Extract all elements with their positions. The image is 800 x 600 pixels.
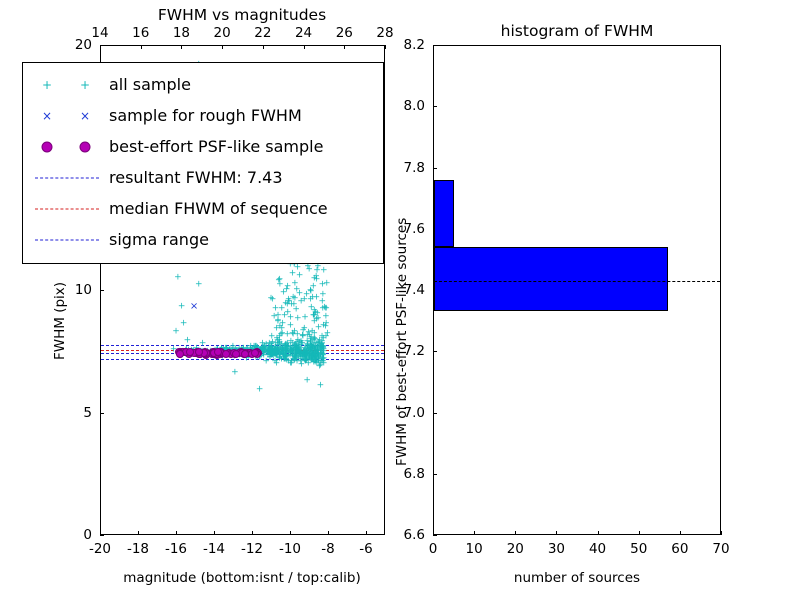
scatter-point-all-sample: + — [172, 327, 180, 336]
x-tick-label-bottom: -20 — [89, 541, 111, 557]
x-tick-label-top: 26 — [336, 25, 353, 41]
hist-y-tick — [433, 106, 437, 107]
scatter-point-psf-like — [186, 348, 194, 356]
hist-y-tick-label: 8.2 — [404, 37, 425, 53]
x-tick-label-bottom: -10 — [279, 541, 301, 557]
scatter-point-psf-like — [214, 348, 222, 356]
x-tick-label-top: 16 — [132, 25, 149, 41]
x-tick-label-bottom: -18 — [127, 541, 149, 557]
scatter-point-psf-like — [176, 350, 184, 358]
legend-item-resultant-fwhm: resultant FWHM: 7.43 — [31, 162, 375, 193]
scatter-point-all-sample: + — [280, 289, 288, 298]
hist-x-tick — [680, 531, 681, 535]
legend-marker-dashdot-blue-icon — [31, 229, 109, 251]
scatter-point-all-sample: + — [276, 333, 284, 342]
legend-marker-x-icon: ×× — [31, 105, 109, 127]
hist-x-tick-label: 50 — [630, 541, 647, 557]
hist-x-tick-label: 70 — [712, 541, 729, 557]
x-tick-label-bottom: -8 — [321, 541, 334, 557]
legend-marker-circle-icon — [31, 136, 109, 158]
scatter-point-all-sample: + — [318, 338, 326, 347]
scatter-point-all-sample: + — [279, 319, 287, 328]
legend-item-median-fwhm: median FHWM of sequence — [31, 193, 375, 224]
x-tick-top — [263, 45, 264, 49]
hist-y-tick — [433, 351, 437, 352]
hist-median-line — [434, 281, 720, 282]
right-y-axis-label: FWHM of best-effort PSF-like sources — [394, 218, 410, 466]
legend-item-psf-like: best-effort PSF-like sample — [31, 131, 375, 162]
hist-y-tick-label: 7.2 — [404, 343, 425, 359]
scatter-point-all-sample: + — [231, 369, 239, 378]
hist-y-tick-label: 7.8 — [404, 160, 425, 176]
scatter-point-psf-like — [241, 350, 249, 358]
hist-bar — [434, 247, 668, 311]
hist-x-tick — [639, 531, 640, 535]
scatter-point-all-sample: + — [195, 281, 203, 290]
left-x-axis-label: magnitude (bottom:isnt / top:calib) — [123, 570, 360, 586]
x-tick-bottom — [290, 531, 291, 535]
scatter-point-all-sample: + — [180, 320, 188, 329]
hist-x-tick-label: 30 — [548, 541, 565, 557]
hist-x-tick — [515, 531, 516, 535]
legend-label: resultant FWHM: 7.43 — [109, 168, 283, 187]
hist-x-tick-label: 60 — [671, 541, 688, 557]
x-tick-bottom — [366, 531, 367, 535]
y-tick-label-left: 20 — [75, 37, 92, 53]
legend-marker-dashed-blue-icon — [31, 167, 109, 189]
hist-y-tick-label: 6.6 — [404, 527, 425, 543]
right-x-axis-label: number of sources — [514, 570, 640, 586]
scatter-point-all-sample: + — [289, 329, 297, 338]
y-tick-label-left: 0 — [83, 527, 92, 543]
legend-item-all-sample: ++ all sample — [31, 69, 375, 100]
x-tick-bottom — [252, 531, 253, 535]
x-tick-bottom — [176, 531, 177, 535]
hist-y-tick-label: 7.0 — [404, 405, 425, 421]
scatter-point-all-sample: + — [184, 337, 192, 346]
x-tick-label-top: 22 — [254, 25, 271, 41]
scatter-point-all-sample: + — [307, 288, 315, 297]
hist-y-tick — [433, 535, 437, 536]
legend-item-rough-fwhm: ×× sample for rough FWHM — [31, 100, 375, 131]
scatter-point-psf-like — [195, 348, 203, 356]
hist-x-tick — [474, 531, 475, 535]
x-tick-label-bottom: -14 — [203, 541, 225, 557]
hist-y-tick — [433, 474, 437, 475]
scatter-point-all-sample: + — [296, 272, 304, 281]
legend-marker-dashed-red-icon — [31, 198, 109, 220]
hist-x-tick-label: 40 — [589, 541, 606, 557]
scatter-point-all-sample: + — [289, 270, 297, 279]
figure-canvas: FWHM vs magnitudes FWHM (pix) magnitude … — [0, 0, 800, 600]
x-tick-top — [344, 45, 345, 49]
x-tick-bottom — [138, 531, 139, 535]
legend-label: sample for rough FWHM — [109, 106, 302, 125]
legend-label: all sample — [109, 75, 191, 94]
scatter-point-all-sample: + — [297, 298, 305, 307]
x-tick-top — [141, 45, 142, 49]
x-tick-bottom — [328, 531, 329, 535]
scatter-point-all-sample: + — [272, 304, 280, 313]
scatter-point-all-sample: + — [311, 357, 319, 366]
hist-x-tick-label: 0 — [429, 541, 438, 557]
x-tick-label-top: 24 — [295, 25, 312, 41]
hist-x-tick — [556, 531, 557, 535]
x-tick-top — [181, 45, 182, 49]
legend-label: median FHWM of sequence — [109, 199, 328, 218]
hist-y-tick-label: 8.0 — [404, 98, 425, 114]
x-tick-label-top: 14 — [91, 25, 108, 41]
legend-marker-plus-icon: ++ — [31, 74, 109, 96]
scatter-point-all-sample: + — [315, 323, 323, 332]
x-tick-label-top: 28 — [376, 25, 393, 41]
scatter-point-all-sample: + — [287, 314, 295, 323]
scatter-point-rough-fwhm: × — [190, 302, 198, 312]
legend-label: best-effort PSF-like sample — [109, 137, 323, 156]
hist-y-tick — [433, 45, 437, 46]
x-tick-label-bottom: -12 — [241, 541, 263, 557]
hist-x-tick-label: 20 — [507, 541, 524, 557]
scatter-point-all-sample: + — [297, 357, 305, 366]
left-plot-title: FWHM vs magnitudes — [158, 6, 326, 24]
legend-label: sigma range — [109, 230, 209, 249]
x-tick-label-top: 20 — [214, 25, 231, 41]
hist-y-tick-label: 7.6 — [404, 221, 425, 237]
x-tick-label-top: 18 — [173, 25, 190, 41]
x-tick-top — [222, 45, 223, 49]
hist-x-tick-label: 10 — [466, 541, 483, 557]
scatter-point-all-sample: + — [301, 313, 309, 322]
scatter-point-all-sample: + — [299, 333, 307, 342]
y-tick-left — [100, 290, 104, 291]
scatter-point-all-sample: + — [174, 273, 182, 282]
left-y-axis-label: FWHM (pix) — [52, 282, 68, 360]
x-tick-label-bottom: -16 — [165, 541, 187, 557]
x-tick-bottom — [214, 531, 215, 535]
scatter-point-psf-like — [251, 349, 259, 357]
y-tick-label-left: 10 — [75, 282, 92, 298]
legend-box: ++ all sample ×× sample for rough FWHM b… — [22, 62, 384, 264]
scatter-point-all-sample: + — [303, 376, 311, 385]
scatter-point-all-sample: + — [283, 349, 291, 358]
x-tick-top — [385, 45, 386, 49]
hist-bar — [434, 180, 454, 247]
x-tick-label-bottom: -6 — [359, 541, 372, 557]
scatter-point-all-sample: + — [313, 276, 321, 285]
y-tick-left — [100, 535, 104, 536]
scatter-point-psf-like — [232, 350, 240, 358]
scatter-point-all-sample: + — [319, 298, 327, 307]
y-tick-label-left: 5 — [83, 405, 92, 421]
scatter-point-all-sample: + — [322, 320, 330, 329]
scatter-point-all-sample: + — [307, 337, 315, 346]
hist-y-tick-label: 7.4 — [404, 282, 425, 298]
scatter-point-all-sample: + — [178, 303, 186, 312]
scatter-point-all-sample: + — [305, 265, 313, 274]
scatter-point-all-sample: + — [294, 314, 302, 323]
legend-item-sigma-range: sigma range — [31, 224, 375, 255]
scatter-point-all-sample: + — [324, 330, 332, 339]
hist-y-tick-label: 6.8 — [404, 466, 425, 482]
scatter-point-all-sample: + — [317, 381, 325, 390]
scatter-point-psf-like — [222, 350, 230, 358]
hist-x-tick — [721, 531, 722, 535]
hist-x-tick — [598, 531, 599, 535]
y-tick-left — [100, 413, 104, 414]
hist-y-tick — [433, 168, 437, 169]
x-tick-top — [304, 45, 305, 49]
y-tick-left — [100, 45, 104, 46]
right-plot-title: histogram of FWHM — [501, 22, 654, 40]
hist-y-tick — [433, 413, 437, 414]
scatter-point-all-sample: + — [256, 386, 264, 395]
